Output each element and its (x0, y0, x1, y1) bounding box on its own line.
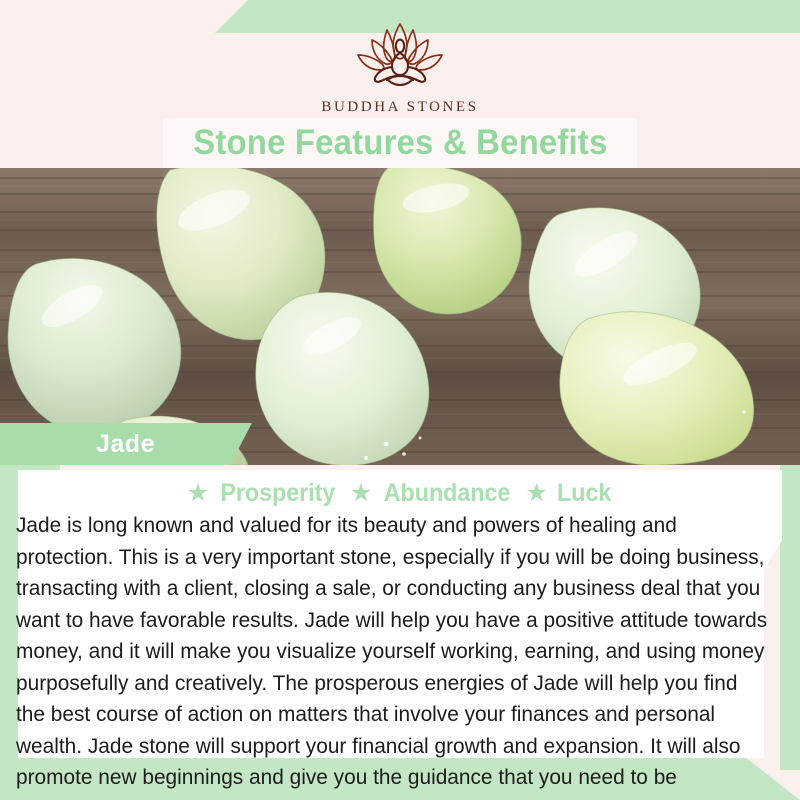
stone-info-card: BUDDHA STONES Stone Features & Benefits (0, 0, 800, 800)
stone-name-label: Jade (96, 430, 155, 459)
benefit-item-prosperity: ★ Prosperity (187, 479, 340, 508)
brand-logo-area: BUDDHA STONES (0, 18, 800, 118)
brand-name: BUDDHA STONES (321, 99, 478, 116)
benefit-item-luck: ★ Luck (525, 479, 613, 508)
title-banner: Stone Features & Benefits (163, 118, 637, 168)
benefit-label: Abundance (384, 479, 511, 508)
page-title: Stone Features & Benefits (193, 123, 607, 163)
star-icon: ★ (187, 481, 209, 506)
lotus-meditation-icon (325, 18, 475, 95)
description-text: Jade is long known and valued for its be… (16, 510, 768, 800)
stone-photo (0, 168, 800, 465)
stone-name-band: Jade (0, 423, 252, 465)
star-icon: ★ (525, 481, 547, 506)
benefit-label: Luck (557, 479, 611, 508)
benefit-label: Prosperity (221, 479, 336, 508)
star-icon: ★ (350, 481, 372, 506)
benefit-item-abundance: ★ Abundance (350, 479, 516, 508)
benefits-row: ★ Prosperity ★ Abundance ★ Luck (0, 478, 800, 508)
